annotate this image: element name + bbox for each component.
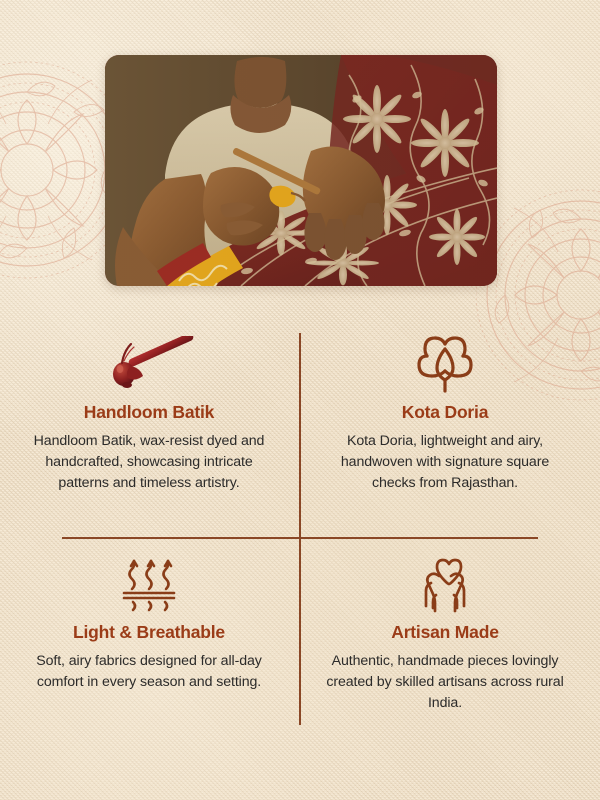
cotton-boll-icon	[320, 332, 570, 396]
breathable-airflow-icon	[24, 552, 274, 616]
tjanting-tool-icon	[24, 332, 274, 396]
feature-description: Handloom Batik, wax-resist dyed and hand…	[24, 431, 274, 493]
horizontal-divider	[62, 537, 538, 539]
hands-holding-heart-icon	[320, 552, 570, 616]
hero-photo	[105, 55, 497, 286]
feature-title: Kota Doria	[320, 402, 570, 422]
feature-highlights-page: Handloom Batik Handloom Batik, wax-resis…	[0, 0, 600, 800]
artisan-batik-photo-illustration	[105, 55, 497, 286]
feature-description: Soft, airy fabrics designed for all-day …	[24, 651, 274, 692]
feature-card-light-breathable: Light & Breathable Soft, airy fabrics de…	[10, 552, 288, 693]
feature-description: Authentic, handmade pieces lovingly crea…	[320, 651, 570, 713]
feature-card-kota-doria: Kota Doria Kota Doria, lightweight and a…	[306, 332, 584, 493]
features-grid: Handloom Batik Handloom Batik, wax-resis…	[0, 318, 600, 748]
feature-description: Kota Doria, lightweight and airy, handwo…	[320, 431, 570, 493]
feature-title: Light & Breathable	[24, 622, 274, 642]
feature-title: Handloom Batik	[24, 402, 274, 422]
feature-card-handloom-batik: Handloom Batik Handloom Batik, wax-resis…	[10, 332, 288, 493]
feature-title: Artisan Made	[320, 622, 570, 642]
feature-card-artisan-made: Artisan Made Authentic, handmade pieces …	[306, 552, 584, 713]
vertical-divider	[299, 333, 301, 725]
